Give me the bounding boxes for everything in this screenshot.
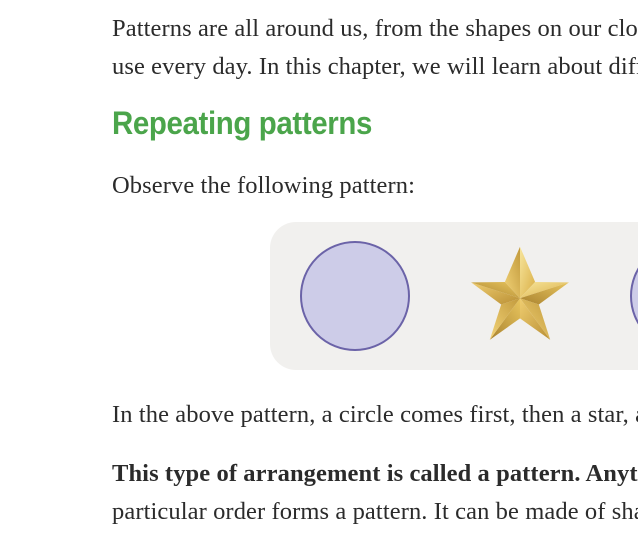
section-heading-repeating-patterns: Repeating patterns bbox=[112, 103, 372, 143]
observe-prompt: Observe the following pattern: bbox=[112, 167, 415, 205]
repeating-shape-pattern-figure bbox=[270, 222, 638, 370]
intro-paragraph: Patterns are all around us, from the sha… bbox=[112, 10, 638, 86]
circle-shape-icon bbox=[300, 241, 410, 351]
observation-paragraph: In the above pattern, a circle comes fir… bbox=[112, 396, 638, 434]
gold-star-shape-icon bbox=[464, 240, 576, 352]
definition-regular-line: particular order forms a pattern. It can… bbox=[112, 493, 638, 531]
definition-bold-line: This type of arrangement is called a pat… bbox=[112, 455, 638, 493]
document-page: Patterns are all around us, from the sha… bbox=[0, 0, 638, 547]
pattern-shape-row bbox=[270, 222, 638, 370]
circle-shape-icon bbox=[630, 241, 638, 351]
intro-paragraph-line-2: use every day. In this chapter, we will … bbox=[112, 48, 638, 86]
intro-paragraph-line-1: Patterns are all around us, from the sha… bbox=[112, 10, 638, 48]
definition-paragraph: This type of arrangement is called a pat… bbox=[112, 455, 638, 531]
